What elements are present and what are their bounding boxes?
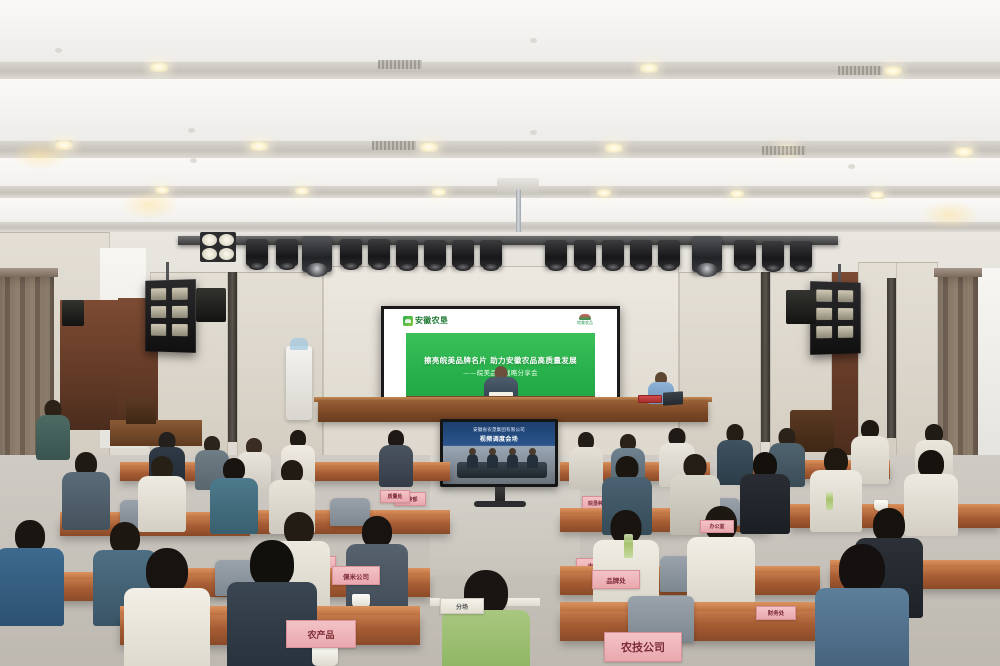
speaker-driver (151, 288, 166, 300)
monitor-line1: 安徽省农垦集团有限公司 (443, 427, 555, 433)
attendee-torso (815, 588, 909, 666)
ceiling-light (250, 141, 268, 151)
monitor-remote-person (507, 454, 518, 468)
moving-head-light (302, 236, 332, 272)
speaker-driver (151, 306, 166, 318)
name-card: 质量处 (380, 490, 410, 503)
line-array-speaker-right (810, 281, 860, 355)
conference-hall-photo: 安徽农垦 皖美农品 擦亮皖美品牌名片 助力安徽农品高质量发展 ——皖美品牌战略分… (0, 0, 1000, 666)
ceiling-light (870, 191, 884, 199)
attendee-torso (379, 445, 413, 487)
slide-secondary-logo-text: 皖美农品 (577, 321, 593, 325)
slide-surface: 安徽农垦 皖美农品 擦亮皖美品牌名片 助力安徽农品高质量发展 ——皖美品牌战略分… (384, 309, 617, 406)
ceiling-fixture-dot (530, 130, 537, 135)
stage-light (790, 241, 812, 268)
ceiling-light (730, 190, 744, 198)
stage-light (545, 240, 567, 267)
stage-light (368, 239, 390, 266)
stage-light (574, 240, 596, 267)
attendee (0, 520, 60, 620)
stage-light (340, 239, 362, 266)
attendee (820, 544, 904, 666)
blinder-lamp (219, 248, 234, 260)
attendee-torso (210, 478, 258, 534)
desk-row (300, 467, 450, 481)
slide-brand-logo-text: 安徽农垦 (415, 315, 448, 326)
head-table-name-plate (638, 395, 662, 403)
attendee-head (250, 540, 294, 588)
video-conference-monitor[interactable]: 安徽省农垦集团有限公司 视频调度会场 (440, 419, 558, 487)
stage-light (424, 240, 446, 267)
ceiling-light (640, 63, 658, 73)
ceiling-light (597, 189, 611, 197)
wall-accent-strip-left (228, 272, 237, 442)
attendee (446, 570, 526, 666)
attendee-head (839, 544, 885, 594)
speaker-driver (816, 308, 832, 320)
water-bottle (624, 534, 633, 558)
stage-light (452, 240, 474, 267)
stage-light (480, 240, 502, 267)
cove-glow (10, 140, 70, 170)
attendee-torso (810, 470, 862, 532)
name-card: 办公室 (700, 520, 734, 533)
subwoofer-left (196, 288, 226, 322)
line-array-speaker-left (145, 279, 195, 353)
ceiling (0, 0, 1000, 240)
name-card: 农技公司 (604, 632, 682, 662)
speaker-driver (838, 326, 853, 338)
name-card: 品牌处 (592, 570, 640, 589)
stage-light (602, 240, 624, 267)
ceiling-light (605, 143, 623, 153)
blinder-lamp (202, 234, 217, 246)
curtain-rod-right (934, 268, 982, 277)
attendee (812, 448, 860, 526)
attendee (380, 430, 412, 482)
attendee (212, 458, 256, 528)
ceiling-fixture-dot (55, 48, 62, 53)
speaker-rigging-rod (166, 262, 169, 280)
ceiling-soffit-1 (0, 0, 1000, 62)
ceiling-fixture-dot (530, 38, 537, 43)
ceiling-light (150, 62, 168, 72)
speaker-driver (172, 324, 188, 336)
name-card: 农产品 (286, 620, 356, 648)
speaker-driver (172, 306, 188, 318)
monitor-base (474, 501, 526, 507)
speaker-driver (816, 290, 832, 302)
attendee (36, 400, 70, 458)
leaf-logo-icon (403, 316, 413, 326)
speaker-rigging-rod (838, 264, 841, 282)
blinder-lamp (202, 248, 217, 260)
water-dispenser-bottle (290, 338, 308, 350)
slide-green-panel: 擦亮皖美品牌名片 助力安徽农品高质量发展 ——皖美品牌战略分享会 (406, 333, 595, 406)
side-chair-left (126, 398, 156, 424)
ceiling-vent (372, 141, 416, 150)
ceiling-band-2 (0, 141, 1000, 158)
led-video-wall[interactable]: 安徽农垦 皖美农品 擦亮皖美品牌名片 助力安徽农品高质量发展 ——皖美品牌战略分… (381, 306, 620, 410)
ceiling-light (295, 187, 309, 195)
curtain-rod-left (0, 268, 58, 277)
speaker-driver (838, 308, 853, 320)
ceiling-light (432, 188, 446, 196)
speaker-driver (838, 290, 853, 302)
subwoofer-right (786, 290, 816, 324)
stage-light (396, 240, 418, 267)
slide-title: 擦亮皖美品牌名片 助力安徽农品高质量发展 (406, 355, 595, 366)
cove-glow (920, 200, 980, 230)
stage-light (246, 239, 268, 266)
attendee-torso (0, 548, 64, 626)
attendee-torso (569, 447, 603, 489)
blinder-light-panel (200, 232, 236, 262)
ceiling-soffit-2 (0, 79, 1000, 141)
wall-accent-strip-right-2 (887, 278, 896, 438)
attendee (128, 548, 206, 666)
monitor-remote-person (467, 454, 478, 468)
blinder-lamp (219, 234, 234, 246)
name-card: 分场 (440, 598, 484, 614)
stage-light (762, 241, 784, 268)
attendee-torso (124, 588, 210, 666)
stage-light (734, 240, 756, 267)
ceiling-band-4 (0, 222, 1000, 232)
speaker-driver (816, 326, 832, 338)
slide-brand-logo: 安徽农垦 (403, 315, 448, 326)
monitor-screen-surface: 安徽省农垦集团有限公司 视频调度会场 (443, 422, 555, 484)
water-dispenser (286, 346, 312, 420)
monitor-line2: 视频调度会场 (443, 434, 555, 443)
ceiling-light (884, 66, 902, 76)
name-card: 财务处 (756, 606, 796, 620)
ceiling-vent (378, 60, 422, 69)
wall-accent-strip-right-1 (761, 272, 770, 442)
ceiling-fixture-dot (190, 158, 197, 163)
attendee (570, 432, 602, 484)
monitor-remote-person (527, 454, 538, 468)
stage-light (630, 240, 652, 267)
laptop-on-head-table (663, 391, 683, 405)
attendee (64, 452, 108, 524)
wall-speaker-left (62, 300, 84, 326)
attendee (140, 456, 184, 526)
stage-light (658, 240, 680, 267)
slide-secondary-logo: 皖美农品 (577, 314, 593, 325)
moving-head-light (692, 236, 722, 272)
ceiling-fixture-dot (188, 128, 195, 133)
ceiling-vent (838, 66, 882, 75)
water-bottle (826, 492, 833, 510)
speaker-driver (172, 288, 188, 300)
speaker-driver (151, 324, 166, 336)
monitor-remote-person (487, 454, 498, 468)
attendee-head (873, 508, 905, 542)
name-card: 倮米公司 (332, 566, 380, 585)
cove-glow (120, 190, 180, 220)
attendee-torso (442, 610, 530, 666)
ceiling-fixture-dot (848, 164, 855, 169)
ceiling-light (420, 142, 438, 152)
stage-light (276, 239, 298, 266)
ceiling-vent (762, 146, 806, 155)
ceiling-light (955, 147, 973, 157)
